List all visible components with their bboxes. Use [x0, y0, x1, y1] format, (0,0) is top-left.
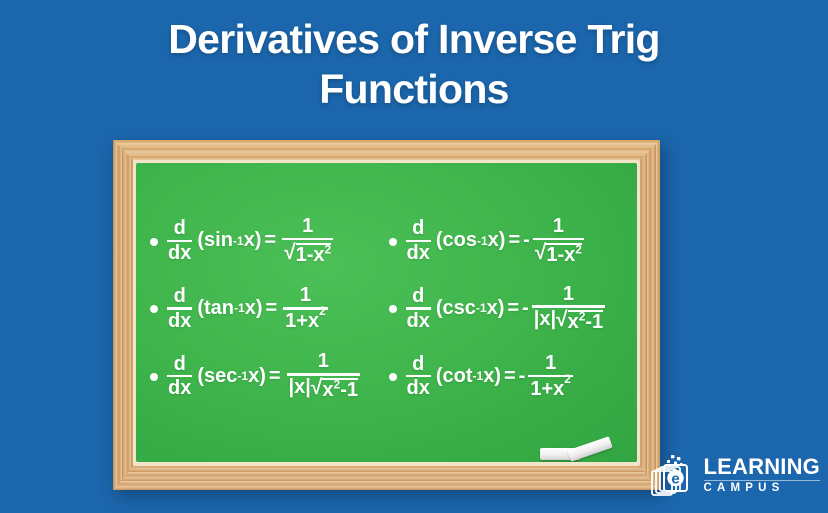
fraction-denominator: |x| √ x2-1 — [532, 309, 605, 333]
bullet-icon — [150, 373, 158, 381]
derivative-operator: d dx — [167, 354, 192, 399]
paren-close: ) — [259, 365, 266, 388]
function-name: sec — [204, 365, 237, 388]
operator-denominator: dx — [167, 311, 192, 331]
denominator-base: 1+x — [530, 379, 564, 399]
fraction-numerator: 1 — [547, 216, 570, 236]
chalkboard: d dx ( sin -1 x ) = 1 — [113, 140, 660, 490]
radicand-tail: -1 — [585, 311, 603, 333]
stacked-cards-e-logo-icon: e — [649, 453, 701, 499]
radical-sign: √ — [284, 242, 296, 266]
paren-open: ( — [197, 297, 204, 320]
operator-denominator: dx — [167, 378, 192, 398]
chalkboard-surface: d dx ( sin -1 x ) = 1 — [136, 163, 637, 462]
derivative-operator: d dx — [406, 218, 431, 263]
radicand-exponent: 2 — [575, 242, 582, 256]
function-variable: x — [483, 365, 494, 388]
denominator-base: 1+x — [285, 311, 319, 331]
paren-open: ( — [436, 229, 443, 252]
result-fraction: 1 1+x2 — [283, 285, 328, 331]
derivative-operator: d dx — [406, 286, 431, 331]
formula-expression: d dx ( csc -1 x ) = - 1 |x| — [406, 284, 607, 334]
frame-rail-bottom — [113, 464, 660, 490]
radicand-base: x — [568, 311, 579, 333]
equals-sign: = — [269, 365, 281, 388]
equals-sign: = — [264, 229, 276, 252]
paren-close: ) — [256, 297, 263, 320]
radicand: 1-x2 — [296, 243, 332, 266]
fraction-denominator: |x| √ x2-1 — [287, 377, 360, 401]
function-name: cot — [443, 365, 473, 388]
operator-denominator: dx — [406, 378, 431, 398]
fraction-denominator: 1+x2 — [528, 379, 573, 399]
operator-denominator: dx — [167, 243, 192, 263]
radicand-base: x — [322, 379, 333, 401]
frame-rail-right — [638, 140, 660, 490]
result-fraction: 1 √ 1-x2 — [282, 216, 333, 266]
function-name: sin — [204, 229, 233, 252]
function-name: cos — [443, 229, 477, 252]
function-name: tan — [204, 297, 234, 320]
logo-secondary-text: CAMPUS — [704, 480, 821, 495]
radical: √ 1-x2 — [284, 242, 331, 266]
result-fraction: 1 1+x2 — [528, 353, 573, 399]
formula-item-arccot: d dx ( cot -1 x ) = - 1 1+x2 — [389, 342, 628, 410]
operator-numerator: d — [410, 354, 426, 374]
result-sign: - — [523, 229, 530, 252]
logo-primary-text: LEARNING — [704, 456, 821, 478]
function-name: csc — [443, 297, 476, 320]
frame-rail-left — [113, 140, 135, 490]
formula-expression: d dx ( cos -1 x ) = - 1 — [406, 216, 585, 266]
brand-logo[interactable]: e LEARNING CAMPUS — [649, 453, 821, 499]
function-variable: x — [244, 229, 255, 252]
frame-rail-top — [113, 140, 660, 162]
formula-item-arctan: d dx ( tan -1 x ) = 1 1+x2 — [150, 275, 389, 343]
function-variable: x — [248, 365, 259, 388]
formula-expression: d dx ( cot -1 x ) = - 1 1+x2 — [406, 353, 574, 399]
radicand-tail: -1 — [340, 379, 358, 401]
paren-close: ) — [499, 229, 506, 252]
radicand: x2-1 — [568, 310, 604, 333]
function-variable: x — [487, 297, 498, 320]
radicand-exponent: 2 — [325, 242, 332, 256]
fraction-numerator: 1 — [539, 353, 562, 373]
result-fraction: 1 |x| √ x2-1 — [287, 351, 360, 401]
operator-numerator: d — [172, 218, 188, 238]
bullet-icon — [150, 238, 158, 246]
radical: √ x2-1 — [556, 309, 603, 333]
operator-numerator: d — [172, 286, 188, 306]
formula-item-arcsin: d dx ( sin -1 x ) = 1 — [150, 207, 389, 275]
derivative-operator: d dx — [167, 286, 192, 331]
paren-open: ( — [436, 365, 443, 388]
paren-open: ( — [197, 229, 204, 252]
formula-item-arcsec: d dx ( sec -1 x ) = 1 |x| — [150, 342, 389, 410]
formula-grid: d dx ( sin -1 x ) = 1 — [136, 163, 637, 462]
chalk-pieces — [540, 432, 612, 462]
operator-numerator: d — [410, 286, 426, 306]
radicand-base: 1-x — [296, 244, 325, 266]
page-title-line-2: Functions — [0, 64, 828, 114]
fraction-denominator: √ 1-x2 — [282, 242, 333, 266]
bullet-icon — [389, 373, 397, 381]
result-sign: - — [519, 365, 526, 388]
fraction-numerator: 1 — [296, 216, 319, 236]
equals-sign: = — [507, 297, 519, 320]
formula-item-arccos: d dx ( cos -1 x ) = - 1 — [389, 207, 628, 275]
derivative-operator: d dx — [167, 218, 192, 263]
formula-item-arccsc: d dx ( csc -1 x ) = - 1 |x| — [389, 275, 628, 343]
radical-sign: √ — [311, 377, 323, 401]
paren-open: ( — [197, 365, 204, 388]
fraction-denominator: √ 1-x2 — [533, 242, 584, 266]
equals-sign: = — [508, 229, 520, 252]
fraction-numerator: 1 — [557, 284, 580, 304]
operator-denominator: dx — [406, 311, 431, 331]
absolute-value-factor: |x| — [289, 377, 311, 397]
logo-monogram: e — [671, 471, 679, 488]
page-title-line-1: Derivatives of Inverse Trig — [0, 14, 828, 64]
absolute-value-factor: |x| — [534, 309, 556, 329]
radical-sign: √ — [556, 309, 568, 333]
paren-close: ) — [255, 229, 262, 252]
bullet-icon — [389, 305, 397, 313]
radicand-base: 1-x — [546, 244, 575, 266]
equals-sign: = — [265, 297, 277, 320]
paren-open: ( — [436, 297, 443, 320]
radical-sign: √ — [535, 242, 547, 266]
fraction-numerator: 1 — [312, 351, 335, 371]
operator-numerator: d — [410, 218, 426, 238]
function-variable: x — [488, 229, 499, 252]
page-title: Derivatives of Inverse Trig Functions — [0, 14, 828, 114]
formula-expression: d dx ( tan -1 x ) = 1 1+x2 — [167, 285, 329, 331]
paren-close: ) — [498, 297, 505, 320]
operator-numerator: d — [172, 354, 188, 374]
bullet-icon — [389, 238, 397, 246]
result-sign: - — [522, 297, 529, 320]
brand-logo-text: LEARNING CAMPUS — [704, 456, 821, 495]
chalk-piece-tilted — [567, 436, 613, 462]
result-fraction: 1 √ 1-x2 — [533, 216, 584, 266]
derivative-operator: d dx — [406, 354, 431, 399]
paren-close: ) — [494, 365, 501, 388]
formula-expression: d dx ( sec -1 x ) = 1 |x| — [167, 351, 361, 401]
bullet-icon — [150, 305, 158, 313]
operator-denominator: dx — [406, 243, 431, 263]
fraction-denominator: 1+x2 — [283, 311, 328, 331]
radical: √ x2-1 — [311, 377, 358, 401]
result-fraction: 1 |x| √ x2-1 — [532, 284, 605, 334]
radicand: 1-x2 — [546, 243, 582, 266]
equals-sign: = — [504, 365, 516, 388]
fraction-numerator: 1 — [294, 285, 317, 305]
formula-expression: d dx ( sin -1 x ) = 1 — [167, 216, 334, 266]
radical: √ 1-x2 — [535, 242, 582, 266]
radicand: x2-1 — [322, 378, 358, 401]
function-variable: x — [245, 297, 256, 320]
